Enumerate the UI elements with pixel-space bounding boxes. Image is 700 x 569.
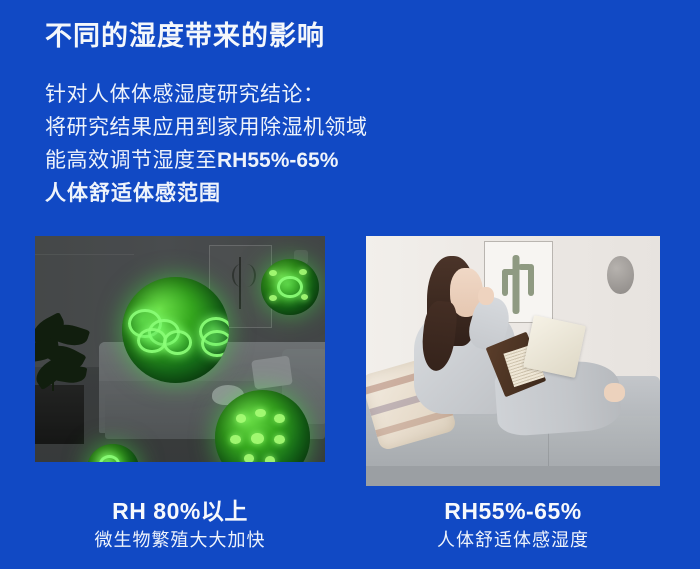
body-line-3-highlight: RH55%-65%	[217, 149, 338, 172]
microbe-spike	[269, 270, 277, 276]
page-title: 不同的湿度带来的影响	[45, 19, 325, 53]
microbe-spike	[251, 433, 263, 443]
body-line-4: 人体舒适体感范围	[45, 177, 368, 210]
body-line-3-prefix: 能高效调节湿度至	[45, 149, 217, 172]
microbe-cell	[201, 330, 229, 357]
caption-sub: 人体舒适体感湿度	[366, 526, 660, 554]
microbe-sphere	[261, 259, 319, 316]
microbe-spike	[236, 414, 247, 423]
light-room-scene	[366, 236, 660, 486]
sofa-base	[366, 466, 660, 486]
caption-main: RH 80%以上	[35, 496, 325, 526]
microbe-spike	[274, 414, 285, 423]
microbe-cell	[277, 276, 303, 299]
microbe-spike	[269, 295, 277, 301]
microbe-spike	[274, 435, 285, 444]
microbe-cell	[99, 455, 121, 462]
microbe-spike	[244, 454, 255, 462]
woman-hand	[478, 287, 494, 305]
microbe-spike	[255, 409, 266, 418]
caption-sub: 微生物繁殖大大加快	[35, 526, 325, 554]
dark-room-scene	[35, 236, 325, 462]
microbe-spike	[301, 294, 309, 300]
woman-reading	[395, 256, 624, 461]
microbe-sphere	[122, 277, 229, 383]
microbe-spike	[230, 435, 241, 444]
body-line-3: 能高效调节湿度至RH55%-65%	[45, 144, 368, 177]
caption-main: RH55%-65%	[366, 496, 660, 526]
body-copy: 针对人体体感湿度研究结论： 将研究结果应用到家用除湿机领域 能高效调节湿度至RH…	[45, 78, 368, 210]
poster-root: 不同的湿度带来的影响 针对人体体感湿度研究结论： 将研究结果应用到家用除湿机领域…	[0, 0, 700, 569]
body-line-2: 将研究结果应用到家用除湿机领域	[45, 111, 368, 144]
photo-comfort-humidity	[366, 236, 660, 486]
caption-comfort-humidity: RH55%-65% 人体舒适体感湿度	[366, 496, 660, 554]
body-line-1: 针对人体体感湿度研究结论：	[45, 78, 368, 111]
microbe-spike	[299, 269, 307, 275]
caption-high-humidity: RH 80%以上 微生物繁殖大大加快	[35, 496, 325, 554]
microbe-cell	[163, 330, 193, 355]
woman-foot	[604, 383, 625, 401]
microbe-spike	[265, 456, 276, 462]
book-page	[523, 315, 586, 378]
photo-high-humidity	[35, 236, 325, 462]
